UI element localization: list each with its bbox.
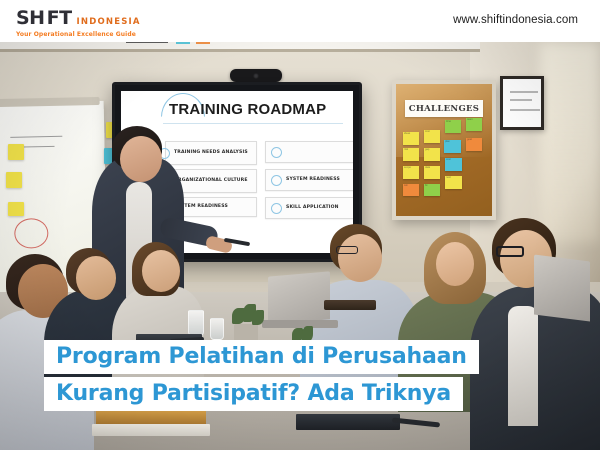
frame-line [510,99,532,101]
slide-title: TRAINING ROADMAP [169,101,326,118]
roadmap-item-label: ORGANIZATIONAL CULTURE [174,178,248,184]
whiteboard-sticky-note [196,42,210,44]
page-header: SH FT INDONESIA Your Operational Excelle… [0,0,600,42]
flipchart-clip [0,97,100,107]
logo-text-indonesia: INDONESIA [77,17,141,27]
webcam-device [230,69,282,82]
clock-icon [271,147,282,158]
cork-sticky-note: next [445,176,462,189]
slide-divider [163,123,343,124]
sticky-note [8,202,24,216]
cork-sticky-note: risk [403,148,419,161]
headline-line-1: Program Pelatihan di Perusahaan [44,340,479,374]
attendee-left-2-head [76,256,116,300]
cork-sticky-note: ideas [403,132,419,145]
paper-stack [92,424,210,436]
cork-sticky-note: team [466,118,482,131]
sticky-note [8,144,24,160]
cork-sticky-note: cost [445,158,462,171]
headline-block: Program Pelatihan di Perusahaan Kurang P… [44,340,479,411]
attendee-right-3-glasses-icon [496,246,524,257]
brand-logo[interactable]: SH FT INDONESIA Your Operational Excelle… [16,7,136,38]
corkboard-title: CHALLENGES [405,100,483,117]
water-glass [210,318,224,340]
roadmap-item-skill-application: SKILL APPLICATION [265,197,353,219]
attendee-right-1-head [338,234,382,282]
water-glass [188,310,204,336]
cork-sticky-note: time [445,120,461,133]
cork-sticky-note: data [424,166,440,179]
attendee-right-1-glasses-icon [336,246,358,254]
roadmap-item-label: TRAINING NEEDS ANALYSIS [174,150,248,156]
flipchart-scribble [10,136,62,138]
frame-line [510,109,540,111]
window-light [540,42,600,242]
roadmap-item-label: SYSTEM READINESS [286,177,340,183]
logo-text-ft: FT [47,9,72,28]
headline-line-2: Kurang Partisipatif? Ada Triknya [44,377,463,411]
flipchart-diagram [14,218,49,249]
webcam-lens-icon [253,73,259,79]
cork-sticky-note: gap [424,148,440,161]
attendee-right-2-head [436,242,474,286]
sticky-note [6,172,22,188]
corkboard-challenges: CHALLENGES ideas cost time team risk gap… [392,80,496,220]
whiteboard-box-resource: RESOURCE ALLOCATION [126,42,168,43]
roadmap-item-training-needs: TRAINING NEEDS ANALYSIS [165,141,257,165]
cork-sticky-note: win [403,184,419,196]
cork-sticky-note: plan [444,140,461,153]
site-url[interactable]: www.shiftindonesia.com [453,14,578,26]
presenter-head [120,136,162,182]
notebook [296,414,400,430]
logo-text-shift: SH [16,9,45,28]
roadmap-item-label: SKILL APPLICATION [286,205,339,211]
roadmap-item-clock [265,141,353,163]
gauge-icon [271,203,282,214]
logo-tagline: Your Operational Excellence Guide [16,31,136,38]
roadmap-item-system-readiness-right: SYSTEM READINESS [265,169,353,191]
leather-folder [324,300,376,310]
wall-picture-frame [500,76,544,130]
laptop-base [262,320,338,328]
attendee-left-3-head [142,250,180,292]
whiteboard-top: A RESOURCE ALLOCATION TEAM COLLABORATION [0,42,480,52]
cork-sticky-note: scope [403,166,419,179]
frame-line [510,91,538,93]
image-canvas: A RESOURCE ALLOCATION TEAM COLLABORATION [0,0,600,450]
cork-sticky-note: cost [424,130,440,143]
whiteboard-sticky-note [176,42,190,44]
cork-sticky-note: fix [424,184,440,196]
bell-icon [271,175,282,186]
laptop-screen [268,271,330,324]
plant-leaf [252,310,264,325]
laptop-screen [534,255,590,322]
attendee-right-3-shirt [508,306,538,426]
cork-sticky-note: goal [466,138,482,151]
